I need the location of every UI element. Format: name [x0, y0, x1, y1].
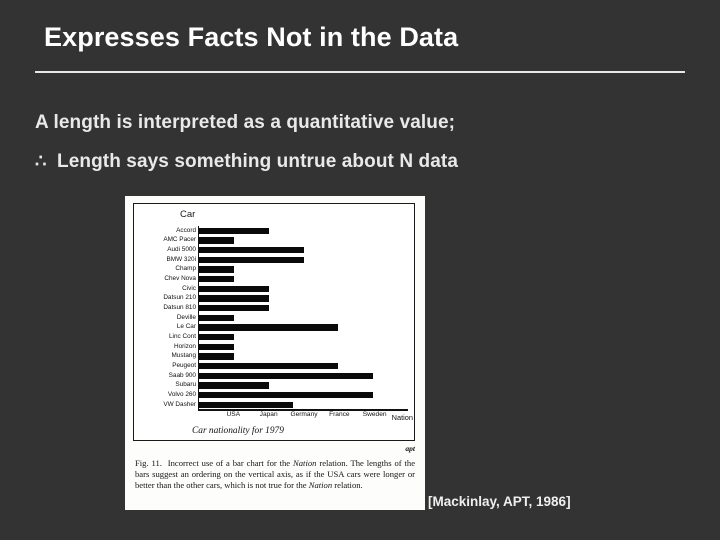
chart-bar-row	[199, 303, 408, 313]
title-divider	[35, 71, 685, 73]
chart-bar	[199, 392, 373, 398]
bar-chart: Car AccordAMC PacerAudi 5000BMW 320iCham…	[133, 203, 415, 441]
chart-x-tick-label: Japan	[260, 411, 278, 418]
chart-bar	[199, 344, 234, 350]
chart-bar-row	[199, 255, 408, 265]
chart-bar	[199, 402, 293, 408]
chart-category-label: VW Dasher	[146, 400, 198, 410]
chart-bar	[199, 257, 304, 263]
chart-category-label: Subaru	[146, 381, 198, 391]
chart-bar-row	[199, 294, 408, 304]
chart-bar	[199, 373, 373, 379]
chart-bar-row	[199, 274, 408, 284]
chart-bar	[199, 276, 234, 282]
chart-category-label: Civic	[146, 284, 198, 294]
chart-bar-row	[199, 332, 408, 342]
chart-category-labels: AccordAMC PacerAudi 5000BMW 320iChampChe…	[146, 226, 198, 410]
chart-bar-row	[199, 265, 408, 275]
chart-bar	[199, 363, 338, 369]
body-line-1: A length is interpreted as a quantitativ…	[35, 112, 455, 134]
apt-watermark: apt	[405, 444, 415, 453]
chart-x-axis-title: Nation	[392, 413, 413, 422]
chart-category-label: Audi 5000	[146, 245, 198, 255]
chart-bar	[199, 228, 269, 234]
chart-bar	[199, 286, 269, 292]
chart-bar-row	[199, 236, 408, 246]
chart-category-label: Le Car	[146, 323, 198, 333]
chart-x-tick-label: Germany	[290, 411, 317, 418]
chart-bar-row	[199, 226, 408, 236]
chart-category-label: Chev Nova	[146, 274, 198, 284]
chart-category-label: Champ	[146, 265, 198, 275]
chart-bar-row	[199, 400, 408, 410]
chart-bar	[199, 324, 338, 330]
chart-bar	[199, 334, 234, 340]
chart-plot-area: AccordAMC PacerAudi 5000BMW 320iChampChe…	[146, 226, 408, 410]
chart-bar-row	[199, 323, 408, 333]
chart-category-label: Deville	[146, 313, 198, 323]
figure-caption-text-1: Incorrect use of a bar chart for the	[168, 458, 293, 468]
therefore-icon: ∴	[35, 151, 57, 172]
chart-category-label: Datsun 210	[146, 294, 198, 304]
chart-category-label: Volvo 260	[146, 390, 198, 400]
body-line-2-text: Length says something untrue about N dat…	[57, 151, 458, 172]
chart-category-label: Mustang	[146, 352, 198, 362]
chart-bar	[199, 295, 269, 301]
chart-y-axis-title: Car	[180, 209, 195, 220]
chart-bar	[199, 247, 304, 253]
source-citation: [Mackinlay, APT, 1986]	[428, 494, 571, 509]
chart-bar-row	[199, 313, 408, 323]
chart-category-label: BMW 320i	[146, 255, 198, 265]
body-line-2: ∴Length says something untrue about N da…	[35, 151, 458, 173]
chart-bar	[199, 315, 234, 321]
chart-category-label: Saab 900	[146, 371, 198, 381]
chart-bar	[199, 266, 234, 272]
chart-category-label: Accord	[146, 226, 198, 236]
chart-bar	[199, 305, 269, 311]
figure-caption-italic-2: Nation	[309, 480, 332, 490]
chart-bar-row	[199, 284, 408, 294]
chart-bar	[199, 353, 234, 359]
chart-category-label: AMC Pacer	[146, 236, 198, 246]
chart-bars-area	[198, 226, 408, 410]
figure-caption-italic-1: Nation	[293, 458, 316, 468]
chart-category-label: Linc Cont	[146, 332, 198, 342]
figure-caption: Fig. 11. Incorrect use of a bar chart fo…	[135, 458, 415, 492]
chart-bar-row	[199, 361, 408, 371]
chart-bar-row	[199, 371, 408, 381]
chart-x-tick-label: France	[329, 411, 350, 418]
chart-bar	[199, 382, 269, 388]
presentation-slide: Expresses Facts Not in the Data A length…	[0, 0, 720, 540]
chart-bar-row	[199, 390, 408, 400]
chart-bar-row	[199, 245, 408, 255]
chart-category-label: Horizon	[146, 342, 198, 352]
chart-x-tick-label: Sweden	[363, 411, 387, 418]
figure-caption-text-3: relation.	[332, 480, 363, 490]
chart-category-label: Datsun 810	[146, 303, 198, 313]
chart-category-label: Peugeot	[146, 361, 198, 371]
chart-bar-row	[199, 352, 408, 362]
page-title: Expresses Facts Not in the Data	[44, 20, 684, 54]
chart-bar	[199, 237, 234, 243]
figure-panel: Car AccordAMC PacerAudi 5000BMW 320iCham…	[125, 196, 425, 510]
chart-caption: Car nationality for 1979	[192, 426, 284, 436]
chart-bar-row	[199, 381, 408, 391]
figure-caption-number: Fig. 11.	[135, 458, 162, 468]
chart-x-tick-label: USA	[227, 411, 241, 418]
chart-x-tick-labels: USAJapanGermanyFranceSweden	[198, 411, 410, 422]
chart-bar-row	[199, 342, 408, 352]
